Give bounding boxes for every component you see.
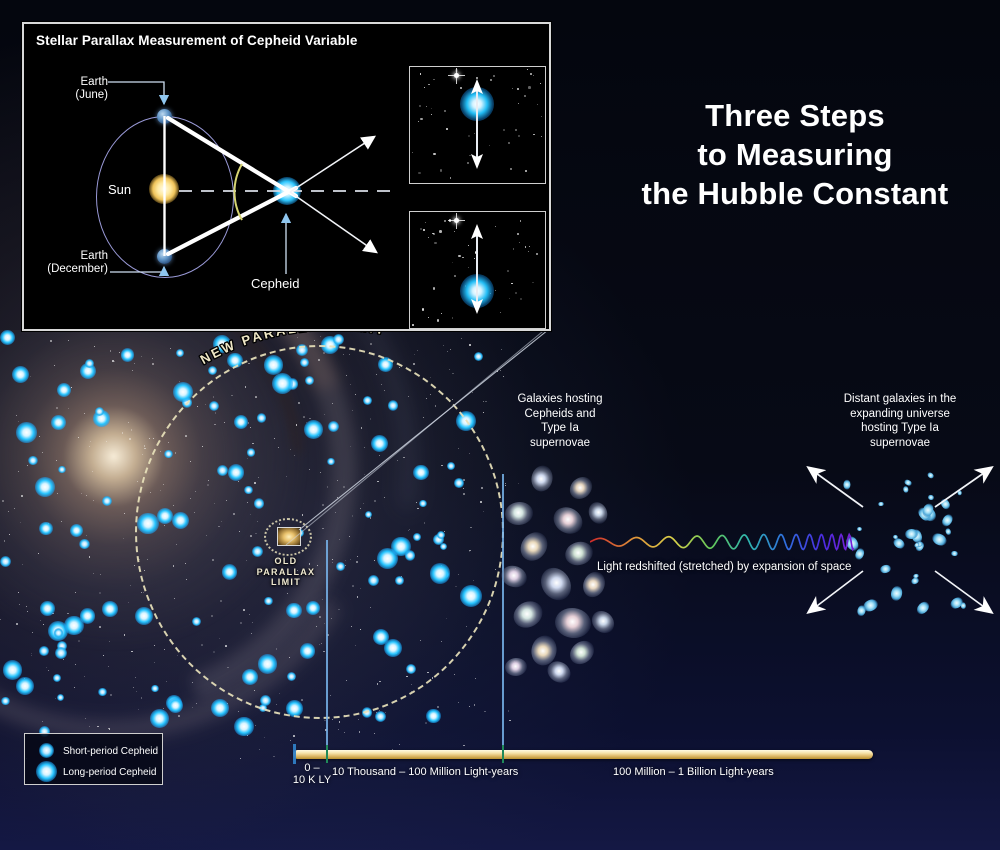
background-star: [86, 535, 87, 536]
scale-label-step3: 100 Million – 1 Billion Light-years: [613, 766, 774, 778]
background-star: [358, 719, 359, 720]
background-star: [138, 709, 139, 710]
host-galaxy: [535, 562, 577, 606]
background-star: [78, 437, 79, 438]
new-parallax-limit-label: NEW PARALLAX LIMIT: [120, 318, 540, 438]
background-star: [110, 694, 111, 695]
background-star: [192, 682, 193, 683]
background-star: [97, 726, 99, 728]
background-star: [75, 592, 76, 593]
background-star: [255, 725, 256, 726]
background-star: [143, 592, 144, 593]
background-star: [508, 710, 510, 712]
background-star: [89, 446, 90, 447]
distant-galaxies-line-1: Distant galaxies in the: [805, 392, 995, 407]
background-star: [42, 721, 43, 722]
cepheid-galaxies-line-4: supernovae: [490, 436, 630, 451]
background-star: [21, 495, 23, 497]
background-star: [131, 651, 132, 652]
background-star: [18, 421, 19, 422]
background-star: [475, 678, 476, 679]
title-line-2: to Measuring: [600, 135, 990, 174]
background-star: [56, 407, 58, 409]
distance-scale-bar: [293, 750, 873, 759]
old-parallax-limit-box: [277, 527, 301, 546]
background-star: [103, 655, 104, 656]
background-star: [474, 704, 476, 706]
legend-dot-long-period: [36, 761, 57, 782]
old-parallax-limit-line-2: PARALLAX: [246, 567, 326, 578]
background-star: [50, 340, 52, 342]
scale-label-step2: 10 Thousand – 100 Million Light-years: [332, 766, 518, 778]
background-star: [109, 641, 110, 642]
scale-tick-10kly: [293, 744, 296, 764]
background-star: [489, 607, 490, 608]
scale-tick-1bly: [502, 745, 504, 763]
background-star: [52, 613, 53, 614]
background-star: [84, 413, 85, 414]
background-star: [509, 720, 511, 722]
host-galaxy: [565, 636, 598, 669]
background-star: [454, 674, 455, 675]
distant-galaxies-line-3: hosting Type Ia: [805, 421, 995, 436]
background-star: [16, 623, 18, 625]
parallax-view-panel-june: [409, 66, 546, 184]
background-star: [89, 726, 90, 727]
background-star: [134, 565, 135, 566]
parallax-inset-panel: Stellar Parallax Measurement of Cepheid …: [22, 22, 551, 331]
background-star: [425, 722, 427, 724]
host-galaxy: [553, 606, 592, 640]
scale-guide-line-step2: [326, 540, 328, 752]
background-star: [68, 408, 69, 409]
host-galaxy: [504, 501, 534, 527]
background-star: [385, 712, 386, 713]
background-star: [484, 711, 486, 713]
background-star: [227, 703, 228, 704]
host-galaxy: [529, 464, 554, 493]
background-star: [359, 731, 361, 733]
cepheid-galaxies-label: Galaxies hosting Cepheids and Type Ia su…: [490, 392, 630, 450]
background-star: [24, 678, 25, 679]
background-star: [240, 758, 241, 759]
old-parallax-limit-line-1: OLD: [246, 556, 326, 567]
distant-galaxies-line-4: supernovae: [805, 436, 995, 451]
background-star: [379, 710, 380, 711]
background-star: [22, 564, 23, 565]
background-star: [273, 756, 275, 758]
scale-label-step1-line-2: 10 K LY: [286, 774, 338, 786]
background-star: [81, 493, 82, 494]
cepheid-galaxies-line-3: Type Ia: [490, 421, 630, 436]
cepheid-galaxies-line-1: Galaxies hosting: [490, 392, 630, 407]
background-star: [4, 540, 6, 542]
cepheid-galaxies-line-2: Cepheids and: [490, 407, 630, 422]
background-star: [293, 735, 295, 737]
old-parallax-limit-line-3: LIMIT: [246, 577, 326, 588]
background-star: [259, 749, 260, 750]
background-star: [164, 649, 165, 650]
background-star: [290, 740, 291, 741]
background-star: [88, 542, 89, 543]
cepheid-legend: Short-period Cepheid Long-period Cepheid: [24, 733, 163, 785]
background-star: [399, 744, 400, 745]
legend-label-long-period: Long-period Cepheid: [63, 767, 156, 778]
page-title: Three Steps to Measuring the Hubble Cons…: [600, 96, 990, 213]
background-star: [55, 698, 56, 699]
host-galaxy: [587, 606, 618, 637]
background-star: [31, 655, 32, 656]
parallax-view-panel-december: [409, 211, 546, 329]
background-star: [458, 702, 459, 703]
background-star: [106, 441, 107, 442]
distant-galaxies-label: Distant galaxies in the expanding univer…: [805, 392, 995, 450]
background-star: [177, 655, 178, 656]
background-star: [14, 508, 15, 509]
host-galaxy: [549, 502, 588, 539]
host-galaxy: [498, 562, 529, 590]
legend-label-short-period: Short-period Cepheid: [63, 746, 158, 757]
redshift-wave: [590, 524, 860, 564]
background-star: [129, 438, 131, 440]
background-star: [48, 670, 49, 671]
scale-label-step1-line-1: 0 –: [286, 762, 338, 774]
background-star: [99, 592, 101, 594]
background-star: [374, 733, 375, 734]
background-star: [19, 604, 20, 605]
background-star: [123, 538, 124, 539]
background-star: [57, 493, 58, 494]
background-star: [84, 676, 85, 677]
distant-galaxies-line-2: expanding universe: [805, 407, 995, 422]
background-star: [437, 706, 439, 708]
background-star: [9, 534, 10, 535]
host-galaxy: [565, 473, 596, 504]
legend-dot-short-period: [39, 743, 54, 758]
background-star: [332, 719, 333, 720]
background-star: [192, 707, 193, 708]
background-star: [86, 495, 87, 496]
background-star: [21, 372, 22, 373]
background-star: [133, 687, 134, 688]
background-star: [338, 729, 339, 730]
old-parallax-limit-label: OLD PARALLAX LIMIT: [246, 556, 326, 588]
background-star: [108, 666, 109, 667]
background-star: [135, 677, 136, 678]
position-shift-arrow: [410, 67, 545, 183]
background-star: [86, 369, 88, 371]
background-star: [39, 436, 40, 437]
background-star: [163, 708, 164, 709]
host-galaxy: [509, 596, 547, 633]
background-star: [137, 481, 138, 482]
scale-label-step1: 0 – 10 K LY: [286, 762, 338, 786]
background-star: [78, 640, 80, 642]
background-star: [18, 592, 19, 593]
background-star: [93, 500, 94, 501]
background-star: [153, 438, 154, 439]
background-star: [376, 712, 377, 713]
background-star: [247, 735, 248, 736]
background-star: [43, 624, 44, 625]
background-star: [339, 721, 341, 723]
host-galaxy: [579, 568, 608, 600]
background-star: [264, 737, 265, 738]
background-star: [128, 602, 129, 603]
background-star: [27, 611, 28, 612]
background-star: [80, 630, 82, 632]
background-star: [55, 675, 56, 676]
background-star: [469, 706, 470, 707]
background-star: [94, 346, 95, 347]
title-line-1: Three Steps: [600, 96, 990, 135]
position-shift-arrow: [410, 212, 545, 328]
background-star: [99, 626, 101, 628]
scale-tick-100mly: [326, 745, 328, 763]
title-line-3: the Hubble Constant: [600, 174, 990, 213]
host-galaxy: [515, 527, 553, 566]
background-star: [2, 500, 3, 501]
infographic-canvas: NEW PARALLAX LIMIT OLD PARALLAX LIMIT St…: [0, 0, 1000, 850]
background-star: [71, 387, 72, 388]
redshift-caption: Light redshifted (stretched) by expansio…: [597, 561, 851, 573]
background-star: [463, 745, 465, 747]
host-galaxy: [586, 499, 611, 526]
background-star: [344, 732, 345, 733]
background-star: [124, 513, 125, 514]
